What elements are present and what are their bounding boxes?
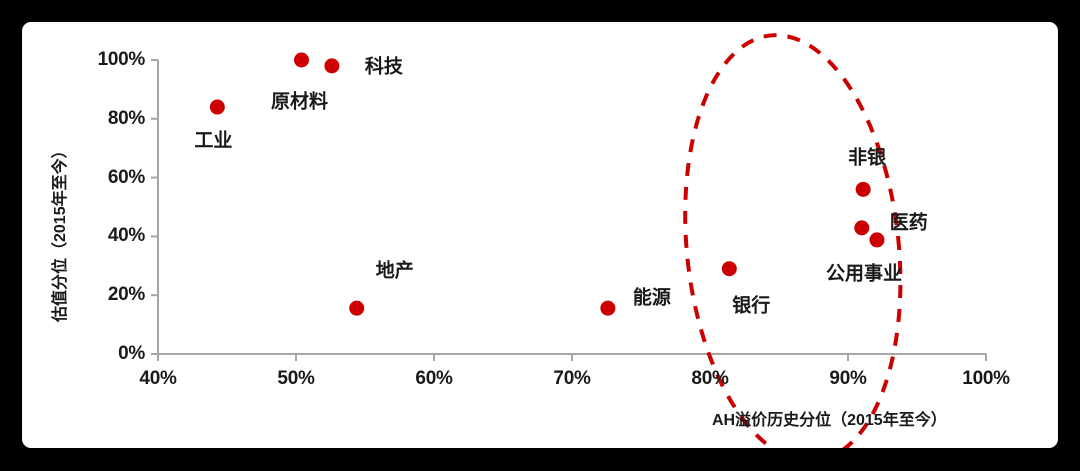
chart-labels-layer: 工业原材料科技地产能源银行非银医药公用事业0%20%40%60%80%100%4… — [22, 22, 1058, 448]
y-axis-tick-label: 100% — [62, 49, 145, 71]
y-axis-tick-label: 60% — [62, 167, 145, 189]
data-point-label: 能源 — [633, 283, 671, 310]
x-axis-tick-label: 100% — [962, 368, 1009, 390]
y-axis-tick-label: 40% — [62, 225, 145, 247]
x-axis-tick-label: 50% — [277, 368, 314, 390]
x-axis-tick-label: 70% — [553, 368, 590, 390]
y-axis-tick-label: 20% — [62, 284, 145, 306]
y-axis-tick-label: 0% — [62, 343, 145, 365]
x-axis-tick-label: 80% — [691, 368, 728, 390]
data-point-label: 科技 — [365, 51, 403, 78]
data-point-label: 非银 — [848, 143, 886, 170]
data-point-label: 地产 — [376, 256, 414, 283]
x-axis-tick-label: 40% — [139, 368, 176, 390]
data-point-label: 银行 — [732, 290, 770, 317]
screenshot-root: 工业原材料科技地产能源银行非银医药公用事业0%20%40%60%80%100%4… — [0, 0, 1080, 471]
scatter-chart: 工业原材料科技地产能源银行非银医药公用事业0%20%40%60%80%100%4… — [22, 22, 1058, 448]
chart-panel: 工业原材料科技地产能源银行非银医药公用事业0%20%40%60%80%100%4… — [22, 22, 1058, 448]
data-point-label: 工业 — [194, 126, 232, 153]
x-axis-tick-label: 60% — [415, 368, 452, 390]
y-axis-tick-label: 80% — [62, 108, 145, 130]
data-point-label: 医药 — [890, 207, 928, 234]
y-axis-title: 估值分位（2015年至今） — [46, 142, 70, 322]
data-point-label: 公用事业 — [826, 258, 902, 285]
data-point-label: 原材料 — [271, 87, 328, 114]
x-axis-title: AH溢价历史分位（2015年至今） — [712, 406, 947, 430]
x-axis-tick-label: 90% — [829, 368, 866, 390]
